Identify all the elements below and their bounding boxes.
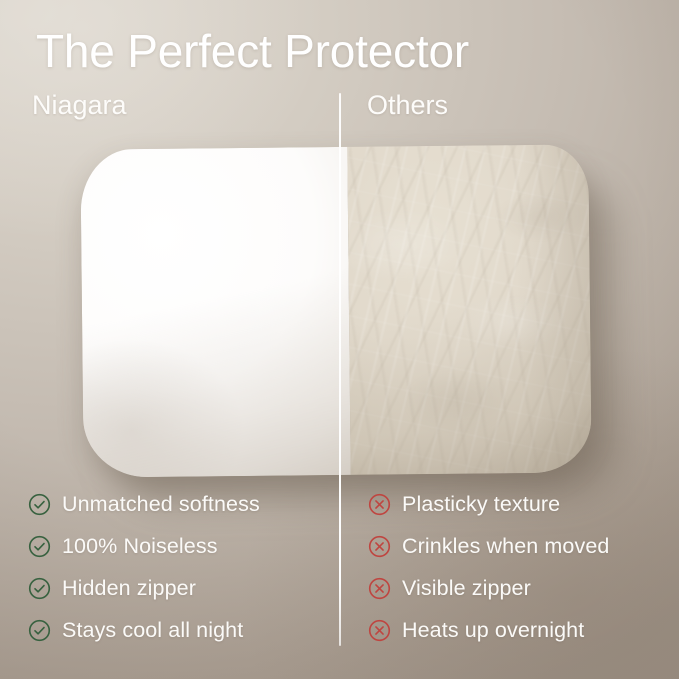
- list-item-label: Hidden zipper: [62, 576, 196, 601]
- product-comparison-image: The Perfect Protector Niagara Others Unm…: [0, 0, 679, 679]
- x-circle-icon: [368, 577, 391, 600]
- list-item: Heats up overnight: [368, 615, 609, 646]
- list-item-label: Crinkles when moved: [402, 534, 609, 559]
- page-title: The Perfect Protector: [36, 24, 469, 78]
- list-item-label: 100% Noiseless: [62, 534, 218, 559]
- x-circle-icon: [368, 493, 391, 516]
- x-circle-icon: [368, 535, 391, 558]
- list-item: Hidden zipper: [28, 573, 260, 604]
- list-item-label: Unmatched softness: [62, 492, 260, 517]
- list-item-label: Plasticky texture: [402, 492, 560, 517]
- x-circle-icon: [368, 619, 391, 642]
- column-label-others: Others: [367, 90, 448, 121]
- cons-list: Plasticky texture Crinkles when moved Vi…: [368, 489, 609, 646]
- list-item-label: Visible zipper: [402, 576, 531, 601]
- check-circle-icon: [28, 535, 51, 558]
- check-circle-icon: [28, 577, 51, 600]
- column-label-niagara: Niagara: [32, 90, 127, 121]
- list-item-label: Stays cool all night: [62, 618, 243, 643]
- list-item-label: Heats up overnight: [402, 618, 584, 643]
- list-item: Crinkles when moved: [368, 531, 609, 562]
- list-item: Plasticky texture: [368, 489, 609, 520]
- check-circle-icon: [28, 493, 51, 516]
- list-item: Visible zipper: [368, 573, 609, 604]
- check-circle-icon: [28, 619, 51, 642]
- list-item: Stays cool all night: [28, 615, 260, 646]
- vertical-divider-line: [339, 93, 341, 646]
- pros-list: Unmatched softness 100% Noiseless Hidden…: [28, 489, 260, 646]
- list-item: Unmatched softness: [28, 489, 260, 520]
- list-item: 100% Noiseless: [28, 531, 260, 562]
